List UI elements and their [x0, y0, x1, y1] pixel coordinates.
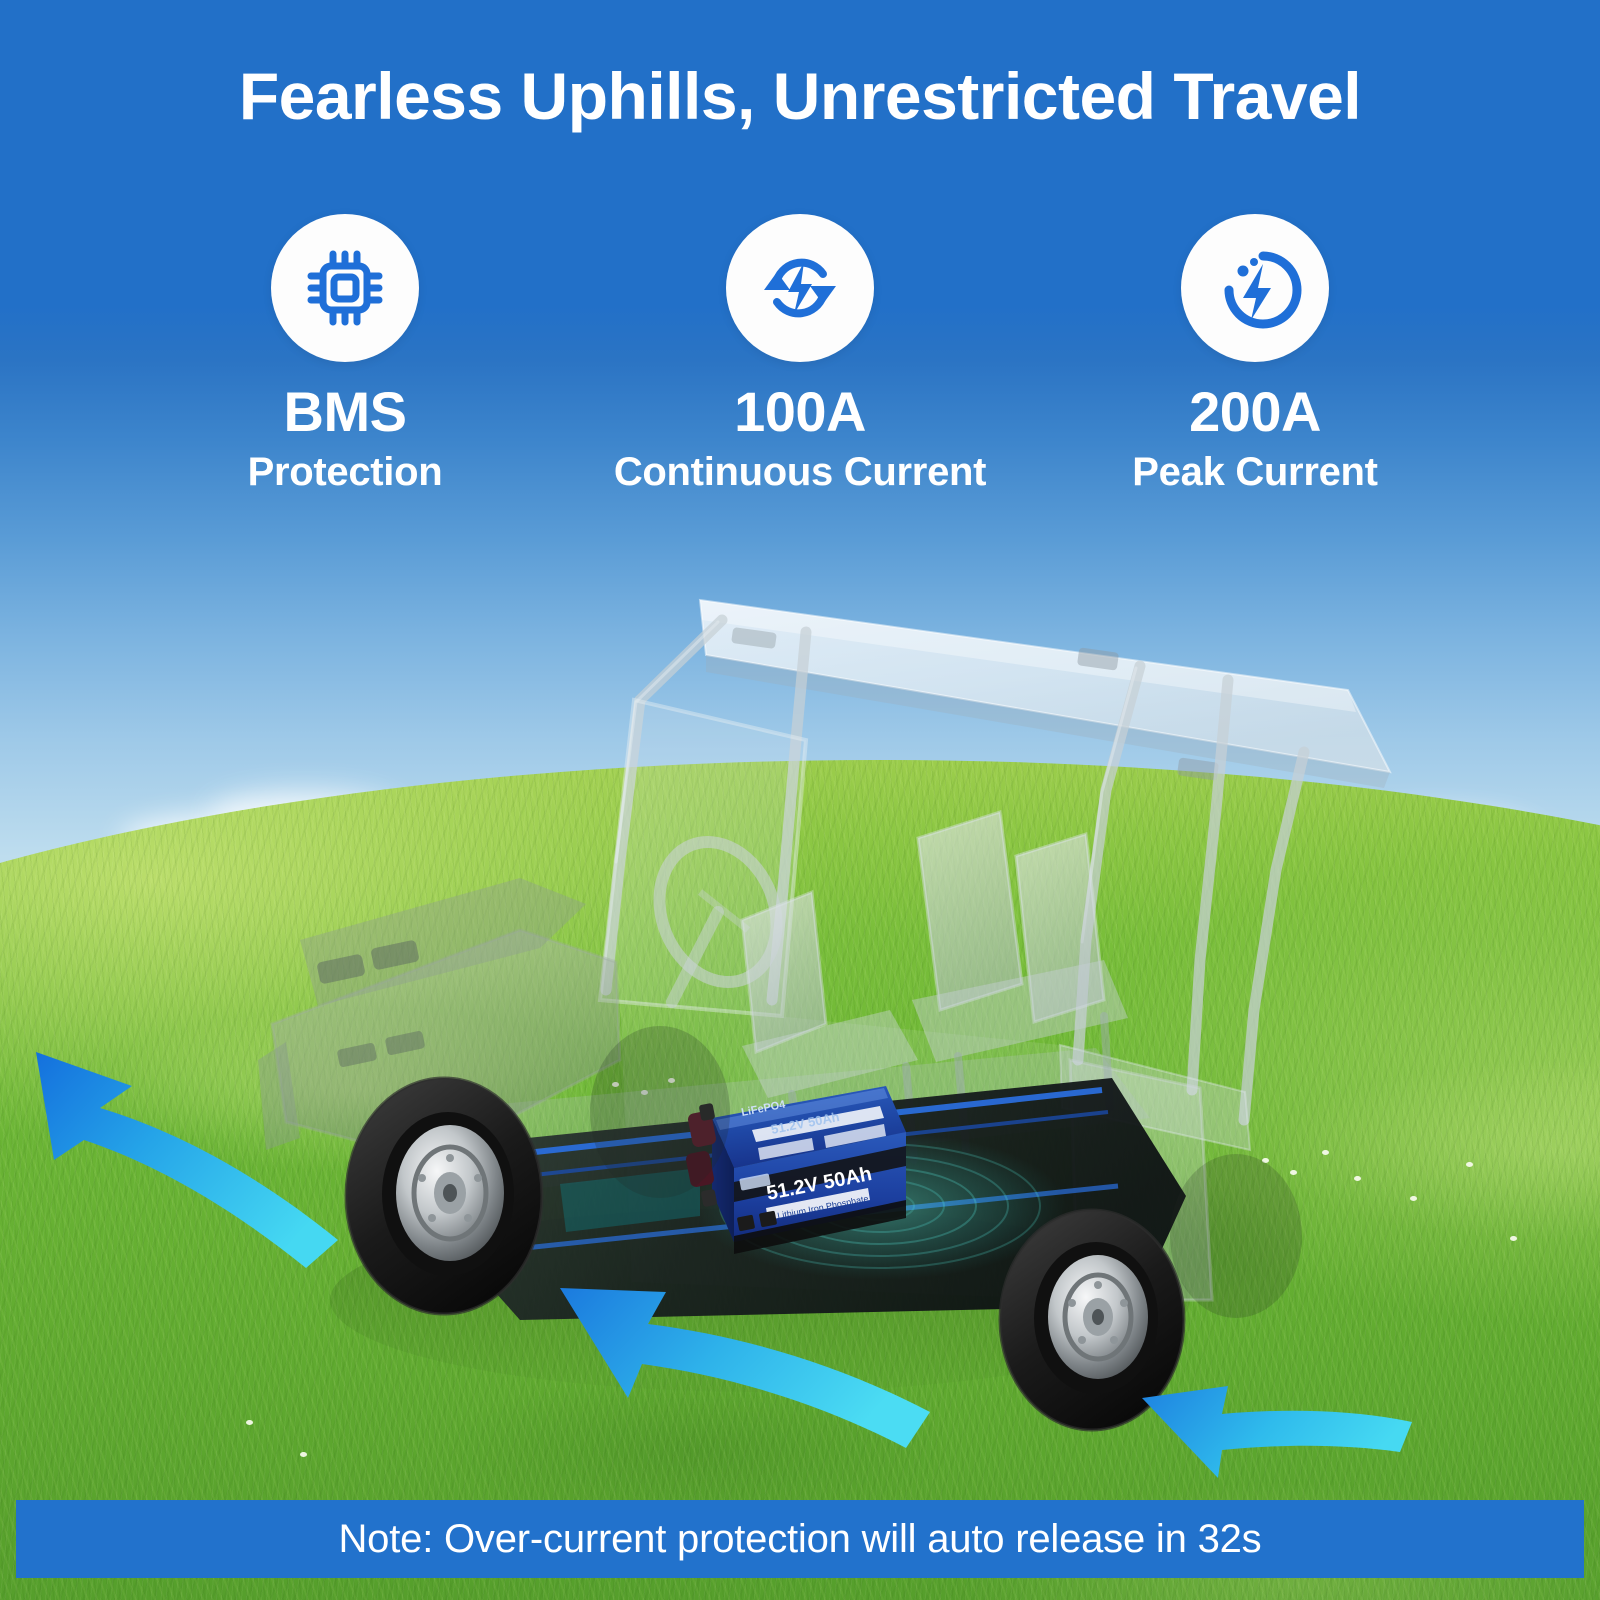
feature-label-continuous-current: Continuous Current — [614, 452, 986, 492]
charge-cycle-icon — [752, 240, 848, 336]
feature-value-peak-current: 200A — [1189, 384, 1321, 440]
feature-value-bms: BMS — [284, 384, 407, 440]
feature-item-peak-current: 200A Peak Current — [1040, 214, 1470, 492]
feature-item-bms: BMS Protection — [130, 214, 560, 492]
clover-fleck — [612, 1082, 619, 1087]
poster-root: LiFePO4 51.2V 50Ah 51.2V 50Ah Lithium Ir… — [0, 0, 1600, 1600]
note-text: Note: Over-current protection will auto … — [339, 1519, 1262, 1559]
note-bar: Note: Over-current protection will auto … — [16, 1500, 1584, 1578]
clover-fleck — [1510, 1236, 1517, 1241]
clover-fleck — [300, 1452, 307, 1457]
feature-list: BMS Protection — [130, 214, 1470, 492]
clover-fleck — [1262, 1158, 1269, 1163]
feature-label-bms: Protection — [248, 452, 443, 492]
clover-fleck — [1466, 1162, 1473, 1167]
clover-fleck — [812, 1108, 819, 1113]
clover-fleck — [1410, 1196, 1417, 1201]
clover-fleck — [246, 1420, 253, 1425]
clover-fleck — [840, 1116, 847, 1121]
peak-current-badge — [1181, 214, 1329, 362]
continuous-current-badge — [726, 214, 874, 362]
clover-fleck — [1322, 1150, 1329, 1155]
feature-item-continuous-current: 100A Continuous Current — [585, 214, 1015, 492]
bms-badge — [271, 214, 419, 362]
feature-value-continuous-current: 100A — [734, 384, 866, 440]
clover-fleck — [668, 1078, 675, 1083]
feature-label-peak-current: Peak Current — [1132, 452, 1377, 492]
clover-fleck — [641, 1090, 648, 1095]
page-title: Fearless Uphills, Unrestricted Travel — [0, 62, 1600, 131]
cpu-chip-icon — [299, 242, 391, 334]
clover-fleck — [1354, 1176, 1361, 1181]
peak-power-icon — [1207, 240, 1303, 336]
clover-fleck — [1290, 1170, 1297, 1175]
